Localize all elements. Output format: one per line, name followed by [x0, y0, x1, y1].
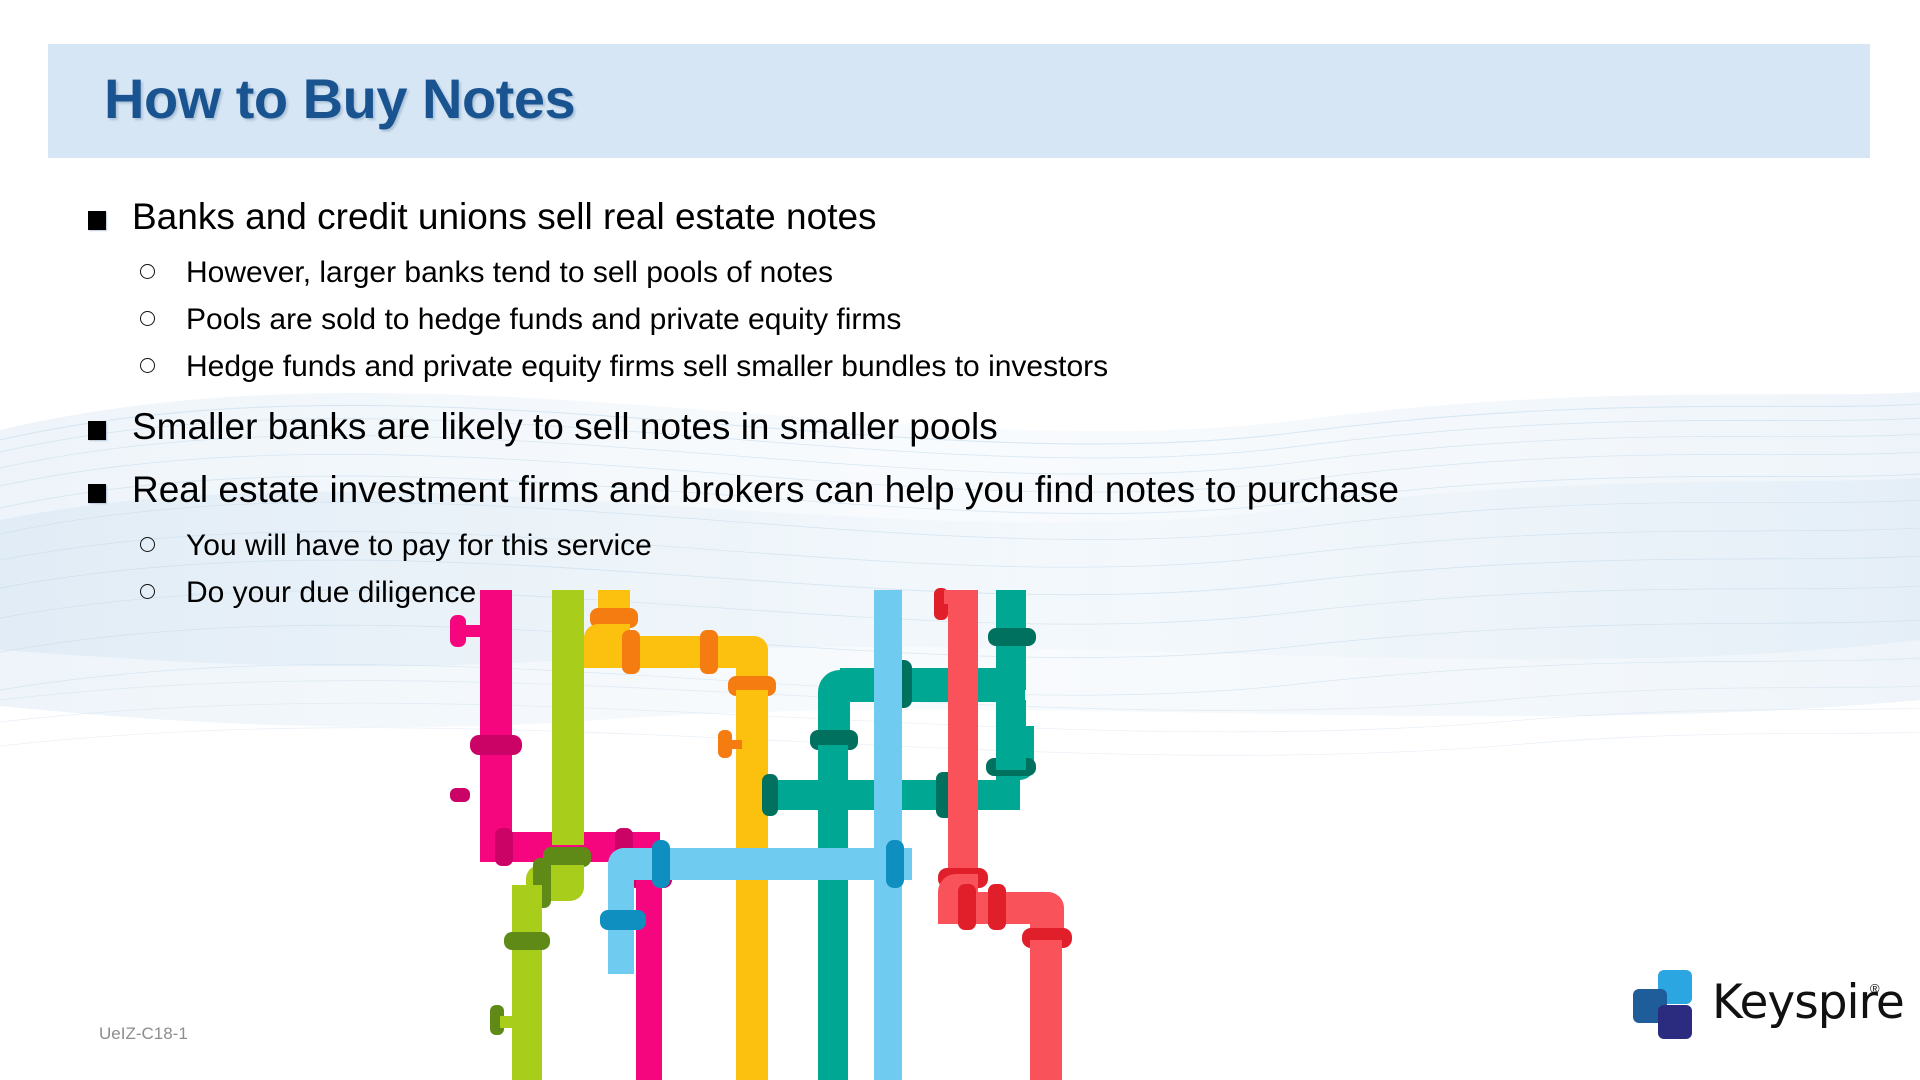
circle-bullet-icon: [140, 522, 186, 569]
keyspire-logo-mark-icon: [1632, 969, 1706, 1041]
keyspire-logo: Keyspire ®: [1632, 967, 1890, 1043]
circle-bullet-icon: [140, 343, 186, 390]
square-bullet-icon: [88, 400, 132, 453]
list-item: You will have to pay for this service: [140, 522, 1828, 569]
circle-bullet-icon: [140, 249, 186, 296]
list-item-label: Hedge funds and private equity firms sel…: [186, 343, 1828, 390]
list-item-label: Do your due diligence: [186, 569, 1828, 616]
list-item-label: Real estate investment firms and brokers…: [132, 463, 1828, 516]
registered-trademark-icon: ®: [1870, 981, 1880, 996]
list-item: Real estate investment firms and brokers…: [88, 463, 1828, 516]
square-bullet-icon: [88, 190, 132, 243]
list-item: Pools are sold to hedge funds and privat…: [140, 296, 1828, 343]
circle-bullet-icon: [140, 569, 186, 616]
list-item-label: Pools are sold to hedge funds and privat…: [186, 296, 1828, 343]
list-item-label: You will have to pay for this service: [186, 522, 1828, 569]
list-item: Smaller banks are likely to sell notes i…: [88, 400, 1828, 453]
colored-pipes-illustration: [440, 580, 1080, 1080]
list-item: Do your due diligence: [140, 569, 1828, 616]
list-item: Hedge funds and private equity firms sel…: [140, 343, 1828, 390]
slide-footer-code: UeIZ-C18-1: [99, 1024, 188, 1044]
list-item-label: Banks and credit unions sell real estate…: [132, 190, 1828, 243]
square-bullet-icon: [88, 463, 132, 516]
list-item-label: However, larger banks tend to sell pools…: [186, 249, 1828, 296]
list-item-label: Smaller banks are likely to sell notes i…: [132, 400, 1828, 453]
page-title: How to Buy Notes: [104, 66, 575, 131]
circle-bullet-icon: [140, 296, 186, 343]
bullet-list: Banks and credit unions sell real estate…: [88, 190, 1828, 616]
title-banner: How to Buy Notes: [48, 44, 1870, 158]
list-item: Banks and credit unions sell real estate…: [88, 190, 1828, 243]
list-item: However, larger banks tend to sell pools…: [140, 249, 1828, 296]
